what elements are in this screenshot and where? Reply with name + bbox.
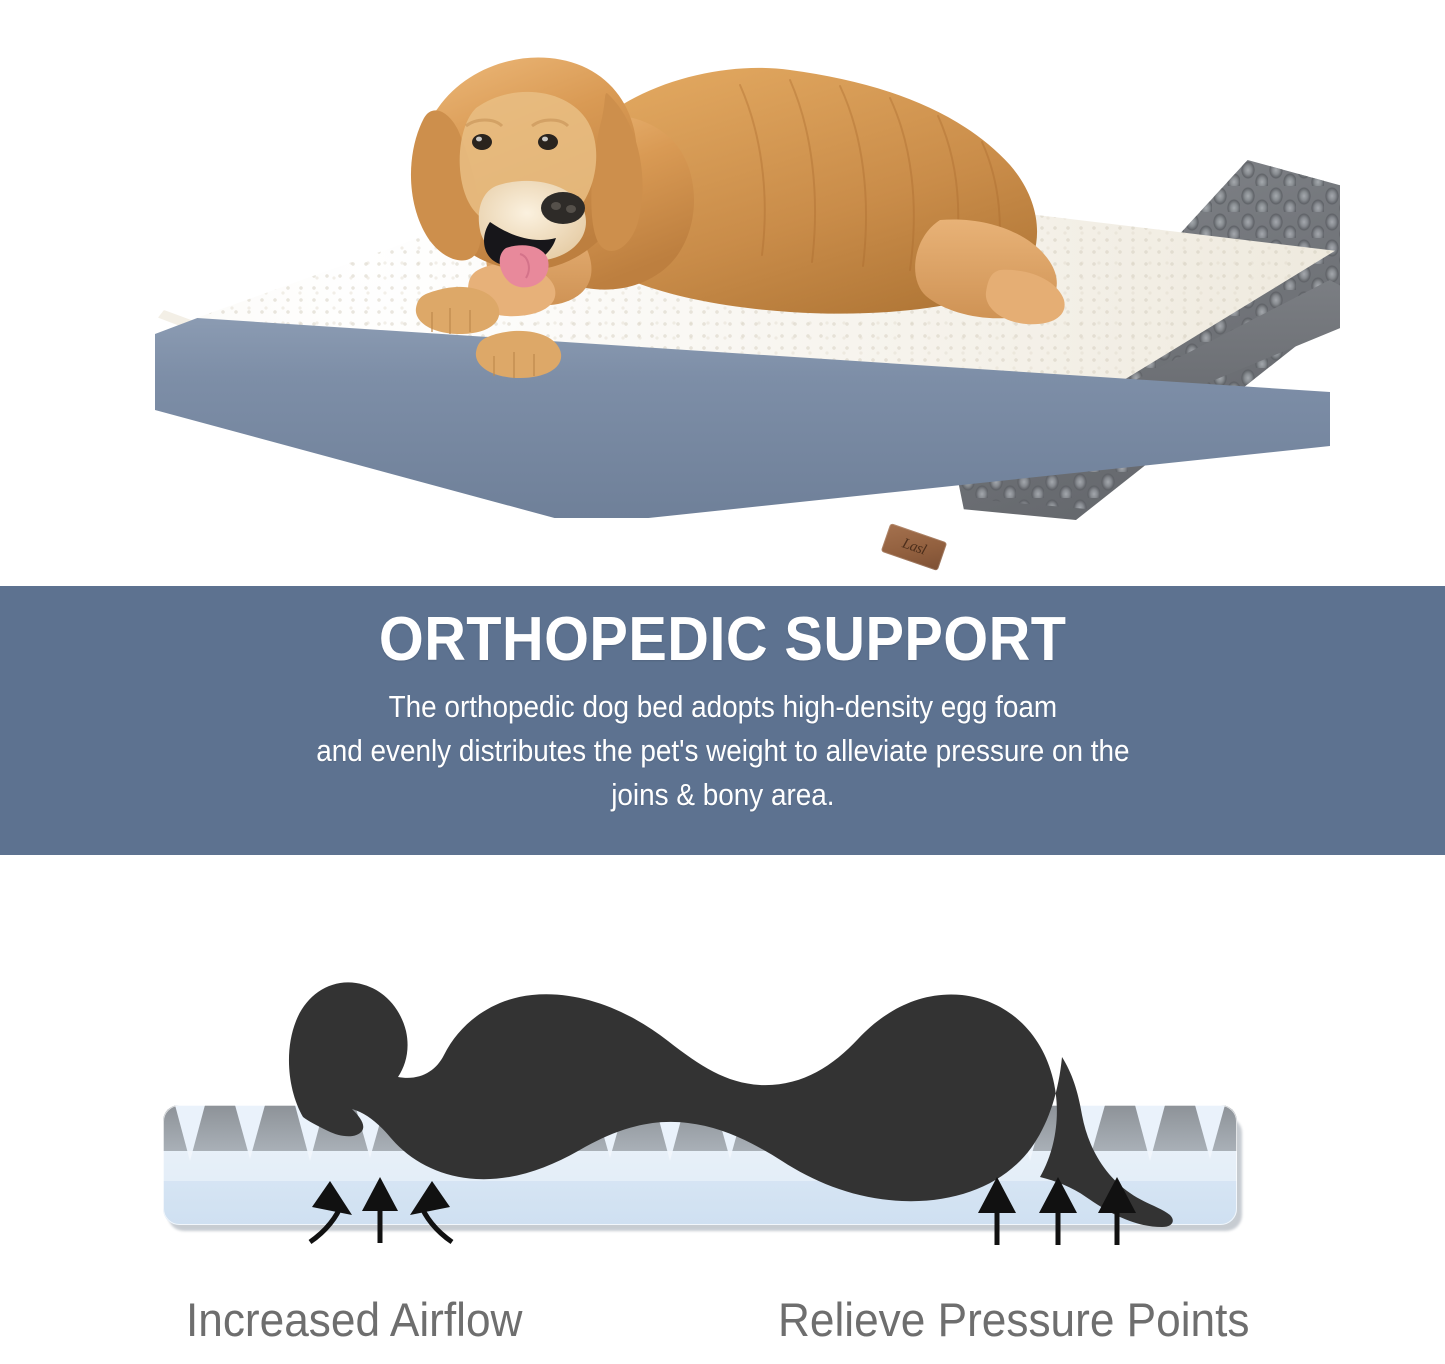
- banner-description-line-1: The orthopedic dog bed adopts high-densi…: [316, 685, 1129, 729]
- golden-retriever-photo: [320, 0, 1120, 390]
- banner-description: The orthopedic dog bed adopts high-densi…: [316, 685, 1129, 817]
- brand-tag-label: Lasl: [900, 536, 927, 558]
- dog-eye-left: [472, 134, 492, 150]
- orthopedic-support-banner: ORTHOPEDIC SUPPORT The orthopedic dog be…: [0, 586, 1445, 855]
- diagram-captions: Increased Airflow Relieve Pressure Point…: [0, 1292, 1445, 1364]
- dog-hind-leg: [915, 219, 1065, 324]
- foam-cross-section-diagram: [0, 855, 1445, 1292]
- banner-description-line-2: and evenly distributes the pet's weight …: [316, 729, 1129, 773]
- cross-section-diagram-section: Increased Airflow Relieve Pressure Point…: [0, 855, 1445, 1364]
- brand-tag: Lasl: [881, 523, 947, 571]
- dog-eye-right: [538, 134, 558, 150]
- banner-title: ORTHOPEDIC SUPPORT: [379, 608, 1067, 671]
- caption-relieve-pressure-points: Relieve Pressure Points: [778, 1296, 1249, 1343]
- pressure-arrows: [978, 1177, 1136, 1245]
- airflow-arrows: [310, 1177, 452, 1243]
- banner-description-line-3: joins & bony area.: [316, 773, 1129, 817]
- product-photo-section: Lasl: [0, 0, 1445, 586]
- caption-increased-airflow: Increased Airflow: [186, 1296, 522, 1343]
